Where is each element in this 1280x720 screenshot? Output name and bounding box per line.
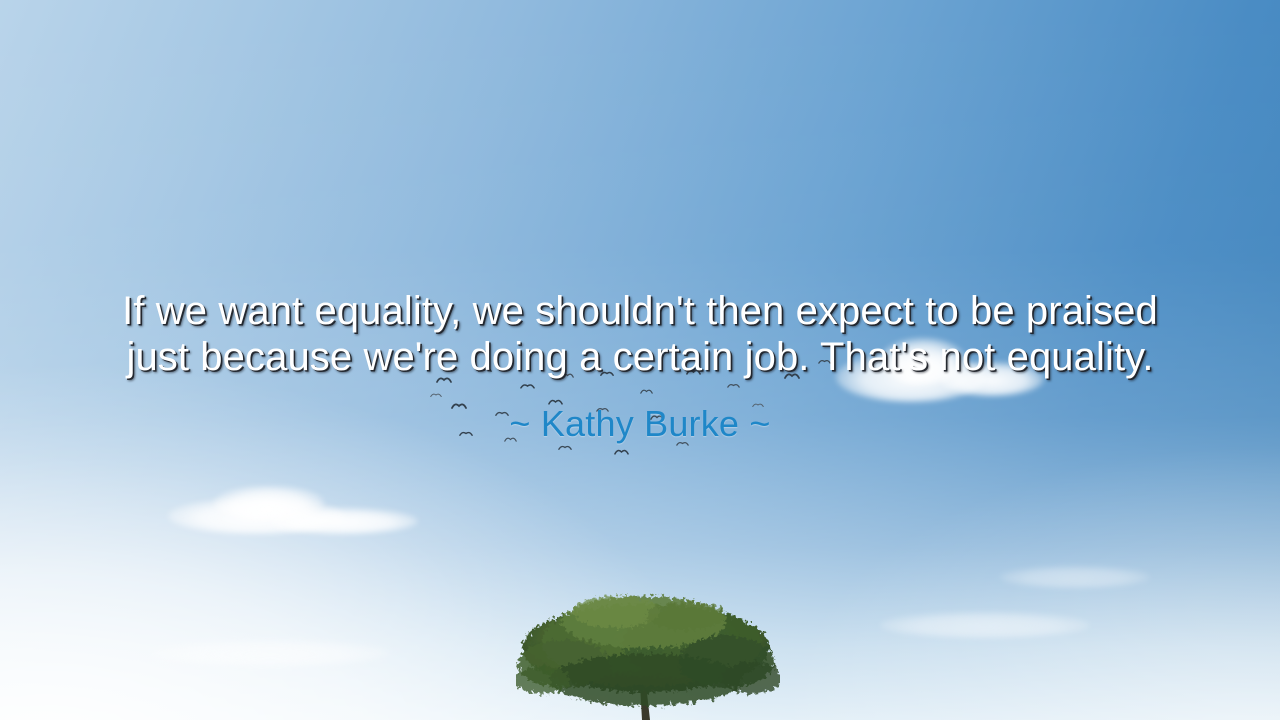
author-attribution: ~ Kathy Burke ~ bbox=[0, 404, 1280, 444]
quote-card-scene: If we want equality, we shouldn't then e… bbox=[0, 0, 1280, 720]
quote-block: If we want equality, we shouldn't then e… bbox=[0, 288, 1280, 444]
quote-text: If we want equality, we shouldn't then e… bbox=[95, 288, 1185, 380]
